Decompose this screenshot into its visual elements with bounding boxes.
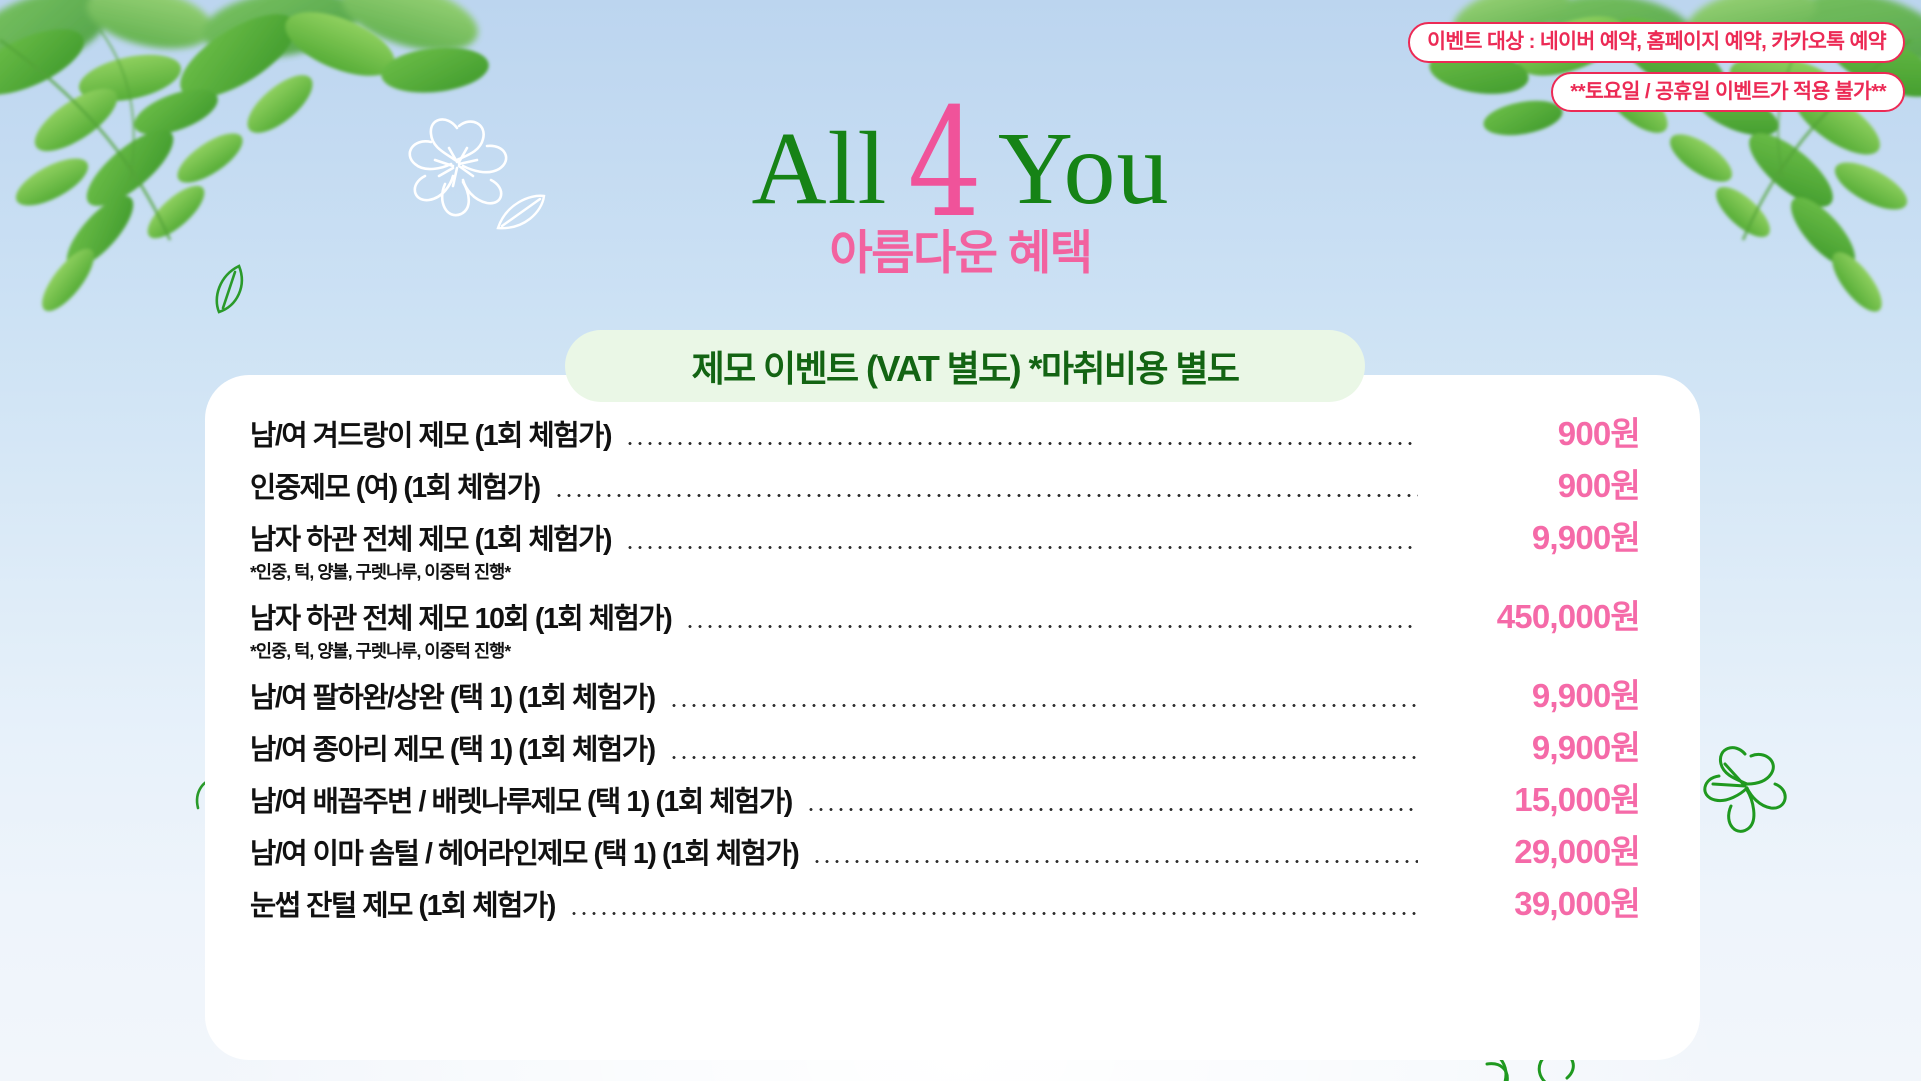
price-row-main: 남/여 종아리 제모 (택 1) (1회 체험가)9,900원 xyxy=(250,721,1640,773)
price-row-main: 인중제모 (여) (1회 체험가)900원 xyxy=(250,459,1640,511)
price-row-value: 450,000원 xyxy=(1430,590,1640,638)
price-row: 남/여 배꼽주변 / 배렛나루제모 (택 1) (1회 체험가)15,000원 xyxy=(250,773,1640,825)
price-row-value: 15,000원 xyxy=(1430,773,1640,821)
price-row-label: 남/여 종아리 제모 (택 1) (1회 체험가) xyxy=(250,727,655,768)
price-row: 남자 하관 전체 제모 (1회 체험가)9,900원*인중, 턱, 양볼, 구렛… xyxy=(250,511,1640,590)
price-row-value: 29,000원 xyxy=(1430,825,1640,873)
price-row-note: *인중, 턱, 양볼, 구렛나루, 이중턱 진행* xyxy=(250,638,1640,663)
price-row-main: 눈썹 잔털 제모 (1회 체험가)39,000원 xyxy=(250,877,1640,929)
price-row-label: 남/여 겨드랑이 제모 (1회 체험가) xyxy=(250,413,611,454)
price-row-value: 9,900원 xyxy=(1430,669,1640,717)
leader-dots xyxy=(806,808,1418,811)
leader-dots xyxy=(812,860,1418,863)
price-row-value: 9,900원 xyxy=(1430,721,1640,769)
title-word-all: All xyxy=(751,111,887,226)
promo-page: 이벤트 대상 : 네이버 예약, 홈페이지 예약, 카카오톡 예약 **토요일 … xyxy=(0,0,1921,1081)
price-row-label: 남/여 배꼽주변 / 배렛나루제모 (택 1) (1회 체험가) xyxy=(250,779,792,820)
price-list: 남/여 겨드랑이 제모 (1회 체험가)900원인중제모 (여) (1회 체험가… xyxy=(250,407,1640,929)
price-row: 남/여 이마 솜털 / 헤어라인제모 (택 1) (1회 체험가)29,000원 xyxy=(250,825,1640,877)
flower-doodle-green xyxy=(1695,740,1805,850)
leader-dots xyxy=(625,546,1418,549)
price-row: 인중제모 (여) (1회 체험가)900원 xyxy=(250,459,1640,511)
title-word-you: You xyxy=(998,111,1170,226)
event-badges: 이벤트 대상 : 네이버 예약, 홈페이지 예약, 카카오톡 예약 **토요일 … xyxy=(1408,22,1905,112)
price-row-value: 900원 xyxy=(1430,459,1640,507)
section-header-pill: 제모 이벤트 (VAT 별도) *마취비용 별도 xyxy=(565,330,1365,402)
price-row: 남자 하관 전체 제모 10회 (1회 체험가)450,000원*인중, 턱, … xyxy=(250,590,1640,669)
price-row-main: 남/여 배꼽주변 / 배렛나루제모 (택 1) (1회 체험가)15,000원 xyxy=(250,773,1640,825)
badge-event-target: 이벤트 대상 : 네이버 예약, 홈페이지 예약, 카카오톡 예약 xyxy=(1408,22,1905,63)
price-row: 남/여 종아리 제모 (택 1) (1회 체험가)9,900원 xyxy=(250,721,1640,773)
price-row-main: 남자 하관 전체 제모 10회 (1회 체험가)450,000원 xyxy=(250,590,1640,640)
leader-dots xyxy=(669,756,1418,759)
price-row: 남/여 팔하완/상완 (택 1) (1회 체험가)9,900원 xyxy=(250,669,1640,721)
price-row-value: 9,900원 xyxy=(1430,511,1640,559)
price-row-note: *인중, 턱, 양볼, 구렛나루, 이중턱 진행* xyxy=(250,559,1640,584)
price-row-label: 남/여 팔하완/상완 (택 1) (1회 체험가) xyxy=(250,675,655,716)
price-row-value: 900원 xyxy=(1430,407,1640,455)
leader-dots xyxy=(685,625,1418,628)
badge-event-restriction: **토요일 / 공휴일 이벤트가 적용 불가** xyxy=(1551,72,1905,113)
leader-dots xyxy=(669,704,1418,707)
price-row: 남/여 겨드랑이 제모 (1회 체험가)900원 xyxy=(250,407,1640,459)
price-row-main: 남/여 팔하완/상완 (택 1) (1회 체험가)9,900원 xyxy=(250,669,1640,721)
price-row-label: 남자 하관 전체 제모 (1회 체험가) xyxy=(250,517,611,558)
price-row: 눈썹 잔털 제모 (1회 체험가)39,000원 xyxy=(250,877,1640,929)
leader-dots xyxy=(569,912,1418,915)
price-row-label: 인중제모 (여) (1회 체험가) xyxy=(250,465,540,506)
price-card: 남/여 겨드랑이 제모 (1회 체험가)900원인중제모 (여) (1회 체험가… xyxy=(205,375,1700,1060)
price-row-main: 남/여 이마 솜털 / 헤어라인제모 (택 1) (1회 체험가)29,000원 xyxy=(250,825,1640,877)
price-row-value: 39,000원 xyxy=(1430,877,1640,925)
price-row-label: 남/여 이마 솜털 / 헤어라인제모 (택 1) (1회 체험가) xyxy=(250,831,798,872)
title-accent-four: 4 xyxy=(908,104,983,224)
section-header-text: 제모 이벤트 (VAT 별도) *마취비용 별도 xyxy=(692,340,1239,392)
price-row-label: 남자 하관 전체 제모 10회 (1회 체험가) xyxy=(250,596,671,637)
leader-dots xyxy=(554,494,1418,497)
price-row-main: 남자 하관 전체 제모 (1회 체험가)9,900원 xyxy=(250,511,1640,561)
price-row-main: 남/여 겨드랑이 제모 (1회 체험가)900원 xyxy=(250,407,1640,459)
title-block: All4You 아름다운 혜택 xyxy=(0,92,1921,276)
leader-dots xyxy=(625,442,1418,445)
price-row-label: 눈썹 잔털 제모 (1회 체험가) xyxy=(250,883,555,924)
